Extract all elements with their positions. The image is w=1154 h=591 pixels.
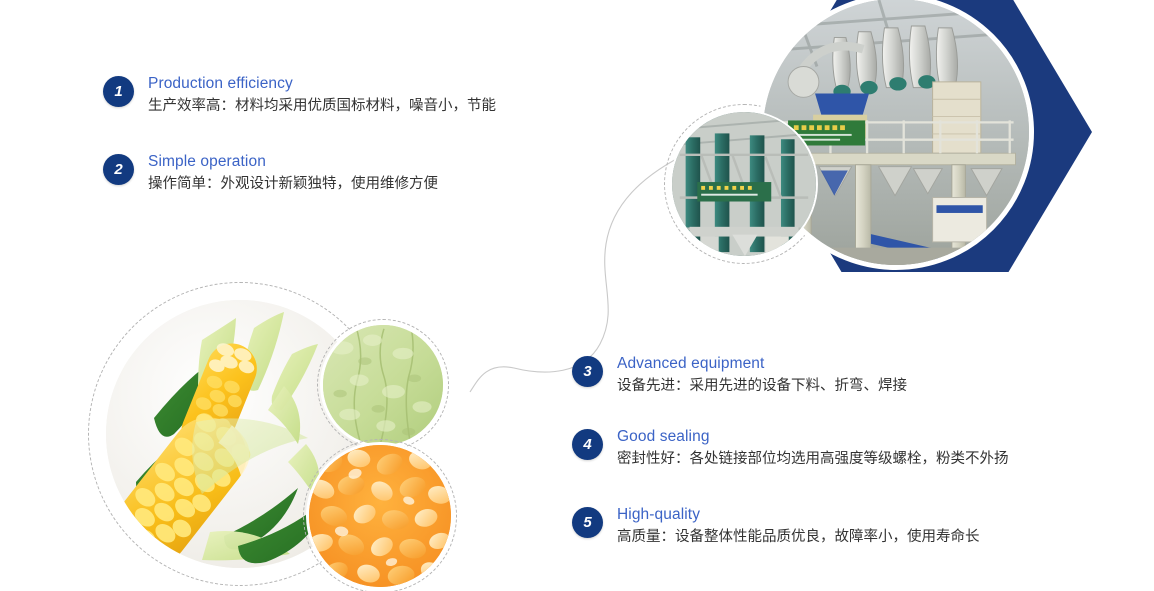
feature-text-4: Good sealing 密封性好：各处链接部位均选用高强度等级螺栓，粉类不外扬 bbox=[617, 427, 1009, 470]
feature-title-4: Good sealing bbox=[617, 427, 1009, 447]
feature-desc-4: 密封性好：各处链接部位均选用高强度等级螺栓，粉类不外扬 bbox=[617, 448, 1009, 470]
orange-corn-kernels-photo bbox=[306, 442, 454, 590]
feature-title-5: High-quality bbox=[617, 505, 980, 525]
feature-text-2: Simple operation 操作简单：外观设计新颖独特，使用维修方便 bbox=[148, 152, 438, 195]
green-milling-machinery-photo bbox=[670, 110, 818, 258]
green-cornmeal-texture-photo bbox=[320, 322, 446, 448]
feature-title-1: Production efficiency bbox=[148, 74, 496, 94]
feature-item-3[interactable]: 3 Advanced equipment 设备先进：采用先进的设备下料、折弯、焊… bbox=[572, 354, 907, 397]
feature-desc-1: 生产效率高：材料均采用优质国标材料，噪音小，节能 bbox=[148, 95, 496, 117]
feature-badge-3: 3 bbox=[572, 356, 603, 387]
feature-text-1: Production efficiency 生产效率高：材料均采用优质国标材料，… bbox=[148, 74, 496, 117]
feature-desc-2: 操作简单：外观设计新颖独特，使用维修方便 bbox=[148, 173, 438, 195]
feature-item-2[interactable]: 2 Simple operation 操作简单：外观设计新颖独特，使用维修方便 bbox=[103, 152, 438, 195]
feature-badge-2: 2 bbox=[103, 154, 134, 185]
feature-item-4[interactable]: 4 Good sealing 密封性好：各处链接部位均选用高强度等级螺栓，粉类不… bbox=[572, 427, 1009, 470]
feature-text-3: Advanced equipment 设备先进：采用先进的设备下料、折弯、焊接 bbox=[617, 354, 907, 397]
machinery-image-cluster bbox=[660, 0, 1154, 282]
feature-badge-5: 5 bbox=[572, 507, 603, 538]
feature-desc-5: 高质量：设备整体性能品质优良，故障率小，使用寿命长 bbox=[617, 526, 980, 548]
feature-title-3: Advanced equipment bbox=[617, 354, 907, 374]
infographic-canvas: 1 Production efficiency 生产效率高：材料均采用优质国标材… bbox=[0, 0, 1154, 591]
feature-item-1[interactable]: 1 Production efficiency 生产效率高：材料均采用优质国标材… bbox=[103, 74, 496, 117]
feature-badge-4: 4 bbox=[572, 429, 603, 460]
corn-image-cluster bbox=[88, 282, 488, 591]
feature-item-5[interactable]: 5 High-quality 高质量：设备整体性能品质优良，故障率小，使用寿命长 bbox=[572, 505, 980, 548]
feature-desc-3: 设备先进：采用先进的设备下料、折弯、焊接 bbox=[617, 375, 907, 397]
feature-text-5: High-quality 高质量：设备整体性能品质优良，故障率小，使用寿命长 bbox=[617, 505, 980, 548]
feature-badge-1: 1 bbox=[103, 76, 134, 107]
feature-title-2: Simple operation bbox=[148, 152, 438, 172]
